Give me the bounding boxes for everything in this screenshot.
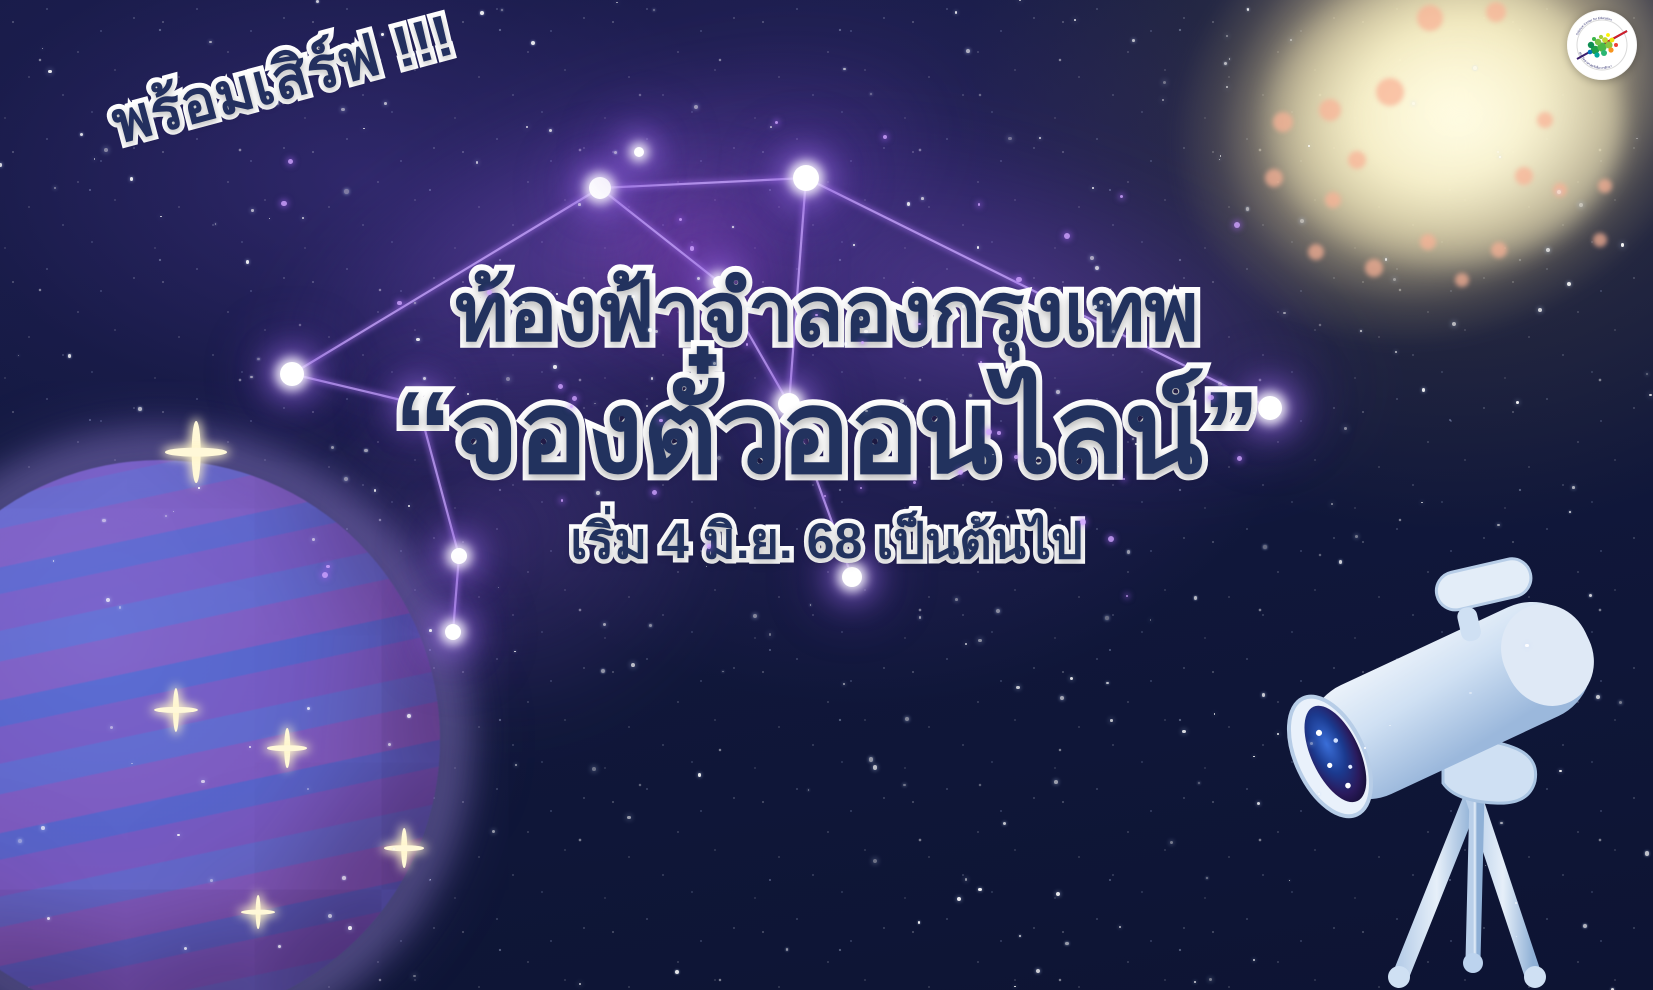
background-star xyxy=(1206,877,1208,879)
background-star xyxy=(786,948,789,951)
background-star xyxy=(1003,822,1006,825)
nebula-speck xyxy=(746,343,748,345)
nebula-speck xyxy=(1080,519,1086,525)
science-center-for-education-logo[interactable]: Science Center for Education ศูนย์วิทยาศ… xyxy=(1567,10,1637,80)
background-star xyxy=(473,280,475,282)
poster-canvas: พร้อมเสิร์ฟ !!! ท้องฟ้าจำลองกรุงเทพ “จอง… xyxy=(0,0,1653,990)
background-star xyxy=(210,879,213,882)
background-star xyxy=(553,365,556,368)
background-star xyxy=(616,2,617,3)
nebula-speck xyxy=(558,384,563,389)
background-star xyxy=(594,403,595,404)
background-star xyxy=(770,126,772,128)
background-star xyxy=(1360,330,1362,332)
title-line-1: ท้องฟ้าจำลองกรุงเทพ xyxy=(0,272,1653,354)
background-star xyxy=(1056,892,1060,896)
background-star xyxy=(506,377,510,381)
background-star xyxy=(1546,248,1550,252)
galaxy-dust-dot xyxy=(1455,273,1469,287)
background-star xyxy=(906,405,907,406)
nebula-speck xyxy=(288,159,293,164)
background-star xyxy=(1569,511,1571,513)
background-star xyxy=(1253,412,1255,414)
background-star xyxy=(1054,780,1058,784)
background-star xyxy=(1224,62,1227,65)
background-star xyxy=(430,879,432,881)
background-star xyxy=(1572,486,1575,489)
nebula-speck xyxy=(1123,478,1125,480)
background-star xyxy=(753,614,757,618)
background-star xyxy=(1182,730,1186,734)
background-star xyxy=(921,197,924,200)
background-star xyxy=(808,789,810,791)
background-star xyxy=(1499,156,1501,158)
background-star xyxy=(1246,207,1250,211)
background-star xyxy=(1095,266,1099,270)
nebula-speck xyxy=(652,490,658,496)
background-star xyxy=(966,49,970,53)
background-star xyxy=(498,587,499,588)
background-star xyxy=(697,277,700,280)
background-star xyxy=(746,307,750,311)
nebula-speck xyxy=(883,135,887,139)
background-star xyxy=(1194,596,1197,599)
background-star xyxy=(1621,243,1624,246)
background-star xyxy=(269,218,270,219)
constellation-star xyxy=(1258,396,1282,420)
sparkle-star-icon xyxy=(165,421,227,483)
background-star xyxy=(251,209,253,211)
background-star xyxy=(1283,312,1286,315)
nebula-speck xyxy=(487,290,493,296)
galaxy-dust-dot xyxy=(1486,2,1506,22)
background-star xyxy=(992,454,994,456)
background-star xyxy=(873,765,877,769)
background-star xyxy=(110,726,113,729)
background-star xyxy=(1389,725,1391,727)
constellation-lines xyxy=(0,0,1653,990)
background-star xyxy=(278,945,281,948)
background-star xyxy=(138,407,141,410)
background-star xyxy=(480,11,484,15)
nebula-speck xyxy=(322,572,328,578)
background-star xyxy=(706,566,707,567)
background-star xyxy=(104,148,108,152)
background-star xyxy=(250,376,253,379)
background-star xyxy=(1421,502,1423,504)
background-star xyxy=(1579,203,1583,207)
background-star xyxy=(201,780,204,783)
background-star xyxy=(900,399,904,403)
background-star xyxy=(1262,693,1266,697)
background-star xyxy=(1162,99,1164,101)
background-star xyxy=(907,202,910,205)
background-star xyxy=(1132,438,1134,440)
background-star xyxy=(1056,390,1060,394)
nebula-speck xyxy=(1014,455,1018,459)
constellation-star xyxy=(589,177,611,199)
background-star xyxy=(978,888,981,891)
nebula-speck xyxy=(997,431,1000,434)
background-star xyxy=(1019,935,1022,938)
background-star xyxy=(413,975,416,978)
sparkle-star-icon xyxy=(154,688,198,732)
nebula-speck xyxy=(958,470,963,475)
background-star xyxy=(1070,677,1073,680)
background-star xyxy=(160,216,161,217)
constellation-star xyxy=(842,567,862,587)
background-star xyxy=(18,839,22,843)
galaxy-dust-dot xyxy=(1598,179,1612,193)
background-star xyxy=(1214,713,1215,714)
background-star xyxy=(1649,394,1651,396)
background-star xyxy=(1036,969,1040,973)
sparkle-star-icon xyxy=(267,728,307,768)
background-star xyxy=(312,538,315,541)
background-star xyxy=(514,651,516,653)
background-star xyxy=(119,606,122,609)
background-star xyxy=(423,377,426,380)
galaxy-dust-dot xyxy=(1593,233,1607,247)
background-star xyxy=(870,93,872,95)
background-star xyxy=(1065,942,1068,945)
background-star xyxy=(957,897,961,901)
background-star xyxy=(810,604,811,605)
background-star xyxy=(976,519,979,522)
background-star xyxy=(627,816,630,819)
background-star xyxy=(1557,190,1561,194)
galaxy-dust-dot xyxy=(1553,183,1567,197)
nebula-speck xyxy=(1237,456,1242,461)
galaxy-dust-dot xyxy=(1319,99,1341,121)
background-star xyxy=(429,629,432,632)
background-star xyxy=(1619,701,1622,704)
nebula-speck xyxy=(707,544,712,549)
background-star xyxy=(307,707,310,710)
background-star xyxy=(903,784,906,787)
background-star xyxy=(596,491,600,495)
background-star xyxy=(1226,35,1228,37)
background-star xyxy=(1209,978,1212,981)
background-star xyxy=(130,177,133,180)
background-star xyxy=(651,377,653,379)
background-star xyxy=(106,598,110,602)
background-star xyxy=(1127,550,1130,553)
background-star xyxy=(54,187,55,188)
background-star xyxy=(1646,373,1648,375)
background-star xyxy=(257,358,260,361)
background-star xyxy=(579,983,580,984)
background-star xyxy=(1308,145,1310,147)
constellation-star xyxy=(634,147,644,157)
background-star xyxy=(1170,841,1174,845)
background-star xyxy=(526,126,528,128)
nebula-speck xyxy=(1120,195,1123,198)
background-star xyxy=(515,764,517,766)
background-star xyxy=(1263,545,1266,548)
background-star xyxy=(18,355,19,356)
background-star xyxy=(698,773,702,777)
background-star xyxy=(215,223,217,225)
background-star xyxy=(648,328,652,332)
constellation-star xyxy=(409,395,427,413)
background-star xyxy=(1497,524,1500,527)
background-star xyxy=(955,11,957,13)
background-star xyxy=(1393,278,1396,281)
background-star xyxy=(922,347,923,348)
background-star xyxy=(1220,155,1222,157)
background-star xyxy=(307,788,309,790)
galaxy-dust-dot xyxy=(1365,259,1383,277)
background-star xyxy=(646,405,648,407)
background-star xyxy=(1219,159,1221,161)
galaxy-dust-dot xyxy=(1376,78,1404,106)
background-star xyxy=(388,743,391,746)
gas-giant-planet xyxy=(0,460,440,990)
background-star xyxy=(476,161,478,163)
background-star xyxy=(649,624,652,627)
background-star xyxy=(1515,902,1517,904)
background-star xyxy=(393,848,395,850)
nebula-speck xyxy=(572,396,577,401)
background-star xyxy=(1019,0,1021,1)
headline-block: ท้องฟ้าจำลองกรุงเทพ “จองตั๋วออนไลน์” เริ… xyxy=(0,272,1653,569)
background-star xyxy=(173,511,174,512)
background-star xyxy=(184,947,187,950)
background-star xyxy=(1290,39,1292,41)
background-star xyxy=(713,362,716,365)
background-star xyxy=(364,449,368,453)
galaxy-dust-dot xyxy=(1537,112,1553,128)
constellation-star xyxy=(793,165,819,191)
background-star xyxy=(407,714,411,718)
background-star xyxy=(328,914,332,918)
background-star xyxy=(653,9,655,11)
background-star xyxy=(1289,880,1290,881)
background-star xyxy=(501,9,503,11)
background-star xyxy=(1318,793,1319,794)
planet-atmosphere-glow xyxy=(0,420,480,990)
galaxy-dust-dot xyxy=(1348,151,1366,169)
background-star xyxy=(1198,782,1200,784)
nebula-speck xyxy=(913,481,917,485)
background-star xyxy=(912,282,914,284)
background-star xyxy=(843,68,846,71)
background-star xyxy=(1344,427,1347,430)
background-star xyxy=(1119,926,1121,928)
background-star xyxy=(316,0,320,3)
nebula-speck xyxy=(659,419,663,423)
nebula-speck xyxy=(1108,536,1114,542)
background-star xyxy=(788,549,790,551)
background-star xyxy=(1112,330,1115,333)
galaxy-dust-dot xyxy=(1417,5,1443,31)
background-star xyxy=(1300,219,1304,223)
background-star xyxy=(1107,303,1111,307)
background-star xyxy=(363,128,364,129)
background-star xyxy=(996,609,1000,613)
galaxy-dust-dot xyxy=(1515,167,1533,185)
background-star xyxy=(1525,644,1528,647)
background-star xyxy=(344,477,348,481)
sparkle-star-icon xyxy=(241,895,275,929)
background-star xyxy=(1105,616,1108,619)
background-star xyxy=(348,926,352,930)
background-star xyxy=(865,410,868,413)
background-star xyxy=(341,108,344,111)
background-star xyxy=(1422,388,1425,391)
background-star xyxy=(1090,256,1094,260)
background-star xyxy=(675,970,679,974)
background-star xyxy=(1589,594,1592,597)
nebula-speck xyxy=(986,429,992,435)
background-star xyxy=(694,105,698,109)
background-star xyxy=(873,859,877,863)
background-star xyxy=(977,246,980,249)
nebula-speck xyxy=(690,246,695,251)
background-star xyxy=(1567,282,1571,286)
background-star xyxy=(249,746,252,749)
nebula-speck xyxy=(775,121,778,124)
background-star xyxy=(1497,151,1499,153)
background-star xyxy=(769,633,772,636)
background-star xyxy=(614,151,617,154)
constellation-star xyxy=(280,362,304,386)
galaxy-dust-dot xyxy=(1491,242,1507,258)
background-star xyxy=(1110,719,1112,721)
background-star xyxy=(1485,865,1487,867)
background-star xyxy=(41,826,45,830)
background-star xyxy=(1060,696,1064,700)
background-star xyxy=(853,244,854,245)
background-star xyxy=(965,878,968,881)
background-star xyxy=(592,767,596,771)
background-star xyxy=(969,394,972,397)
background-star xyxy=(1364,747,1366,749)
nebula-speck xyxy=(570,405,573,408)
constellation-star xyxy=(451,548,467,564)
background-star xyxy=(1385,258,1387,260)
background-star xyxy=(717,456,721,460)
background-star xyxy=(986,295,989,298)
nebula-speck xyxy=(978,203,980,205)
nebula-speck xyxy=(397,301,401,305)
nebula-speck xyxy=(815,314,818,317)
background-star xyxy=(1339,560,1343,564)
background-star xyxy=(1355,535,1358,538)
background-star xyxy=(631,663,635,667)
background-star xyxy=(344,189,348,193)
background-star xyxy=(869,757,873,761)
background-star xyxy=(1636,138,1638,140)
nebula-speck xyxy=(980,361,982,363)
nebula-speck xyxy=(860,487,863,490)
background-star xyxy=(342,876,346,880)
background-star xyxy=(492,830,495,833)
nebula-speck xyxy=(1064,233,1070,239)
nebula-speck xyxy=(1016,277,1022,283)
nebula-haze-core xyxy=(560,150,820,380)
background-star xyxy=(844,342,847,345)
background-star xyxy=(631,295,635,299)
background-star xyxy=(1596,695,1600,699)
background-star xyxy=(1452,322,1456,326)
background-star xyxy=(1118,466,1120,468)
background-star xyxy=(408,505,410,507)
background-star xyxy=(177,834,180,837)
background-star xyxy=(1253,756,1255,758)
nebula-speck xyxy=(918,323,920,325)
background-star xyxy=(1395,351,1397,353)
background-star xyxy=(1257,802,1261,806)
sparkle-star-icon xyxy=(384,828,424,868)
background-star xyxy=(955,598,958,601)
background-star xyxy=(47,917,50,920)
constellation-star xyxy=(778,393,800,415)
title-line-2: “จองตั๋วออนไลน์” xyxy=(0,372,1653,494)
title-line-3-date: เริ่ม 4 มิ.ย. 68 เป็นต้นไป xyxy=(0,514,1653,569)
background-star xyxy=(1106,682,1109,685)
background-star xyxy=(918,921,921,924)
background-star xyxy=(68,354,71,357)
background-star xyxy=(331,446,334,449)
background-star xyxy=(1226,86,1228,88)
background-star xyxy=(94,158,95,159)
background-star xyxy=(1218,382,1222,386)
background-star xyxy=(978,639,982,643)
background-star xyxy=(655,330,659,334)
background-star xyxy=(1132,39,1135,42)
background-star xyxy=(53,560,55,562)
background-star xyxy=(578,203,581,206)
nebula-speck xyxy=(824,495,826,497)
background-star xyxy=(198,487,199,488)
background-star xyxy=(1039,137,1041,139)
nebula-speck xyxy=(1208,395,1214,401)
background-star xyxy=(1163,81,1166,84)
background-star xyxy=(374,489,376,491)
galaxy-dust-dot xyxy=(1308,244,1324,260)
background-star xyxy=(732,226,734,228)
nebula-speck xyxy=(861,341,864,344)
background-star xyxy=(1253,959,1255,961)
nebula-speck xyxy=(281,201,287,207)
background-star xyxy=(1092,187,1094,189)
background-star xyxy=(905,717,909,721)
background-star xyxy=(1538,308,1542,312)
background-star xyxy=(1516,936,1517,937)
background-star xyxy=(302,217,304,219)
nebula-haze-lower xyxy=(231,265,789,796)
background-star xyxy=(919,616,922,619)
background-star xyxy=(1135,443,1137,445)
background-star xyxy=(549,129,552,132)
galaxy-dust-dot xyxy=(1420,234,1436,250)
logo-mark-icon: Science Center for Education ศูนย์วิทยาศ… xyxy=(1567,10,1637,80)
background-star xyxy=(209,41,211,43)
background-star xyxy=(1331,503,1333,505)
background-star xyxy=(42,48,43,49)
background-star xyxy=(1014,986,1015,987)
background-star xyxy=(1008,137,1012,141)
nebula-speck xyxy=(679,218,682,221)
refractor-telescope-on-tripod xyxy=(1215,505,1653,990)
constellation-star xyxy=(713,276,725,288)
starfield-mid xyxy=(0,0,1653,990)
constellation-star xyxy=(445,624,461,640)
background-star xyxy=(1229,58,1231,60)
nebula-speck xyxy=(1126,595,1128,597)
